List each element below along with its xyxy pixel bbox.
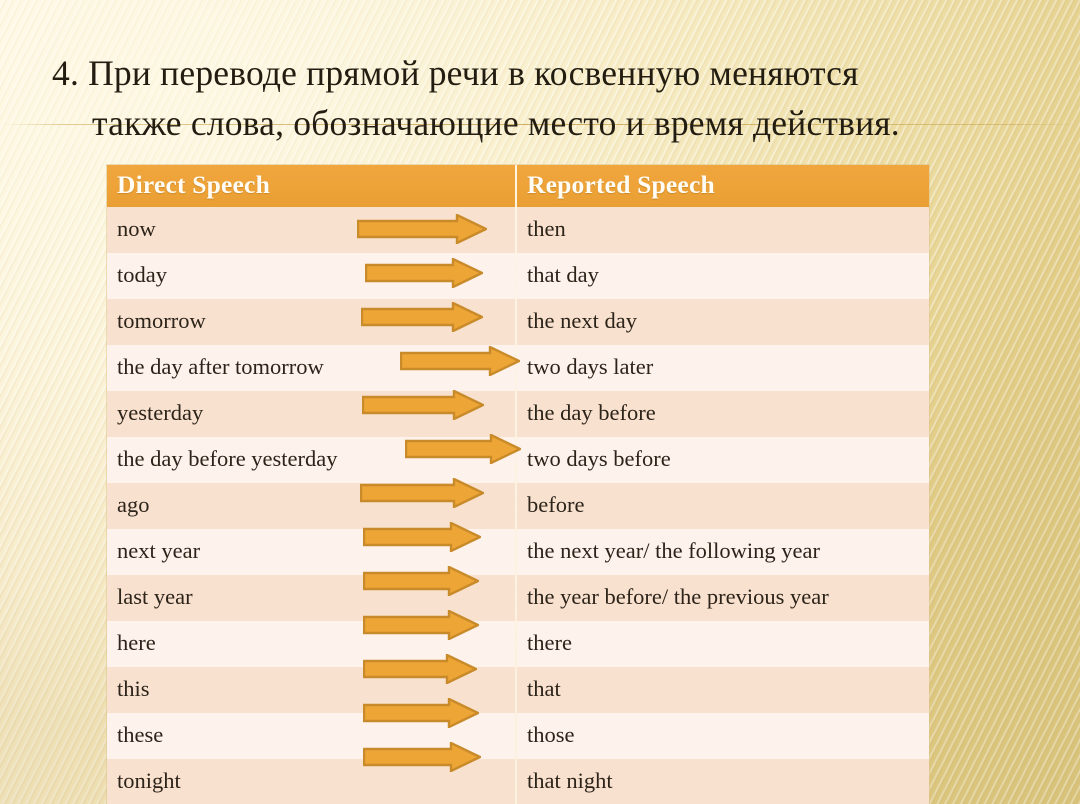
cell-direct-speech: tomorrow [107, 299, 516, 345]
cell-reported-speech: two days before [516, 437, 929, 483]
table-row: nowthen [107, 207, 929, 253]
cell-direct-speech: next year [107, 529, 516, 575]
cell-direct-speech: the day after tomorrow [107, 345, 516, 391]
cell-direct-speech: tonight [107, 759, 516, 804]
table-row: todaythat day [107, 253, 929, 299]
title-line-2: также слова, обозначающие место и время … [46, 98, 1046, 148]
cell-reported-speech: that [516, 667, 929, 713]
table-row: the day after tomorrowtwo days later [107, 345, 929, 391]
cell-direct-speech: ago [107, 483, 516, 529]
cell-reported-speech: before [516, 483, 929, 529]
cell-direct-speech: here [107, 621, 516, 667]
table-body: nowthentodaythat daytomorrowthe next day… [107, 207, 929, 804]
page-title: 4. При переводе прямой речи в косвенную … [46, 48, 1046, 148]
cell-reported-speech: there [516, 621, 929, 667]
cell-direct-speech: this [107, 667, 516, 713]
cell-direct-speech: yesterday [107, 391, 516, 437]
table-row: agobefore [107, 483, 929, 529]
table-row: last yearthe year before/ the previous y… [107, 575, 929, 621]
cell-reported-speech: those [516, 713, 929, 759]
cell-reported-speech: that night [516, 759, 929, 804]
table-row: herethere [107, 621, 929, 667]
table-row: thesethose [107, 713, 929, 759]
table-row: thisthat [107, 667, 929, 713]
table-row: the day before yesterdaytwo days before [107, 437, 929, 483]
slide-canvas: 4. При переводе прямой речи в косвенную … [0, 0, 1080, 804]
table-row: yesterdaythe day before [107, 391, 929, 437]
cell-reported-speech: two days later [516, 345, 929, 391]
column-header-reported-speech: Reported Speech [516, 165, 929, 207]
column-header-direct-speech: Direct Speech [107, 165, 516, 207]
cell-reported-speech: then [516, 207, 929, 253]
cell-reported-speech: the year before/ the previous year [516, 575, 929, 621]
cell-direct-speech: these [107, 713, 516, 759]
title-line-1: 4. При переводе прямой речи в косвенную … [46, 48, 1046, 98]
cell-direct-speech: now [107, 207, 516, 253]
cell-reported-speech: the next day [516, 299, 929, 345]
cell-reported-speech: the next year/ the following year [516, 529, 929, 575]
table-row: next yearthe next year/ the following ye… [107, 529, 929, 575]
cell-direct-speech: last year [107, 575, 516, 621]
table-header-row: Direct Speech Reported Speech [107, 165, 929, 207]
cell-direct-speech: the day before yesterday [107, 437, 516, 483]
cell-reported-speech: that day [516, 253, 929, 299]
cell-direct-speech: today [107, 253, 516, 299]
speech-conversion-table: Direct Speech Reported Speech nowthentod… [107, 165, 929, 804]
table-row: tonightthat night [107, 759, 929, 804]
cell-reported-speech: the day before [516, 391, 929, 437]
table-row: tomorrowthe next day [107, 299, 929, 345]
